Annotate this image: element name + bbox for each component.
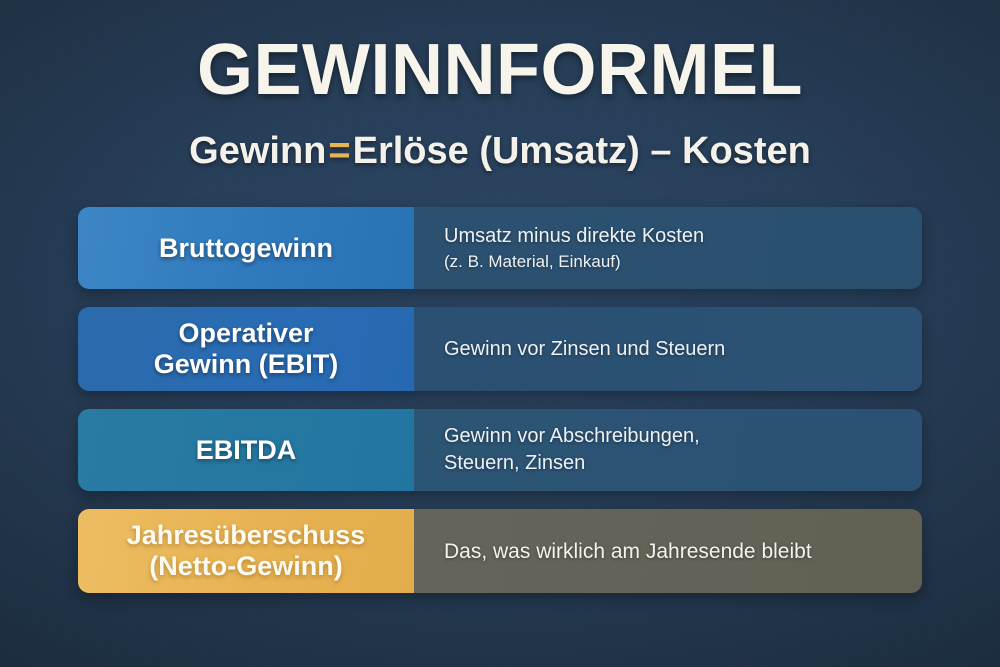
profit-row-ebitda: EBITDA Gewinn vor Abschreibungen, Steuer… [78,409,922,491]
row-label-jahresueberschuss: Jahresüberschuss (Netto-Gewinn) [78,509,414,593]
description-line: Gewinn vor Abschreibungen, [444,423,922,450]
row-label-ebitda: EBITDA [78,409,414,491]
row-description-jahresueberschuss: Das, was wirklich am Jahresende bleibt [414,509,922,593]
description-line: Steuern, Zinsen [444,450,922,477]
row-description-ebit: Gewinn vor Zinsen und Steuern [414,307,922,391]
formula-left-term: Gewinn [189,130,326,172]
formula-right-term: Erlöse (Umsatz) – Kosten [353,130,811,172]
description-line: Das, was wirklich am Jahresende bleibt [444,538,922,565]
profit-formula: Gewinn=Erlöse (Umsatz) – Kosten [0,128,1000,174]
row-description-bruttogewinn: Umsatz minus direkte Kosten (z. B. Mater… [414,207,922,289]
row-label-line: Jahresüberschuss [127,520,366,550]
profit-row-ebit: Operativer Gewinn (EBIT) Gewinn vor Zins… [78,307,922,391]
row-description-ebitda: Gewinn vor Abschreibungen, Steuern, Zins… [414,409,922,491]
row-label-ebit: Operativer Gewinn (EBIT) [78,307,414,391]
equals-sign: = [326,130,352,172]
infographic-canvas: GEWINNFORMEL Gewinn=Erlöse (Umsatz) – Ko… [0,0,1000,667]
description-line: Umsatz minus direkte Kosten [444,223,922,250]
row-label-line: (Netto-Gewinn) [149,551,342,581]
description-line: (z. B. Material, Einkauf) [444,250,922,274]
row-label-line: Operativer [178,318,313,348]
row-label-bruttogewinn: Bruttogewinn [78,207,414,289]
profit-row-bruttogewinn: Bruttogewinn Umsatz minus direkte Kosten… [78,207,922,289]
page-title: GEWINNFORMEL [0,31,1000,109]
description-line: Gewinn vor Zinsen und Steuern [444,336,922,363]
profit-row-jahresueberschuss: Jahresüberschuss (Netto-Gewinn) Das, was… [78,509,922,593]
row-label-line: Gewinn (EBIT) [154,349,339,379]
